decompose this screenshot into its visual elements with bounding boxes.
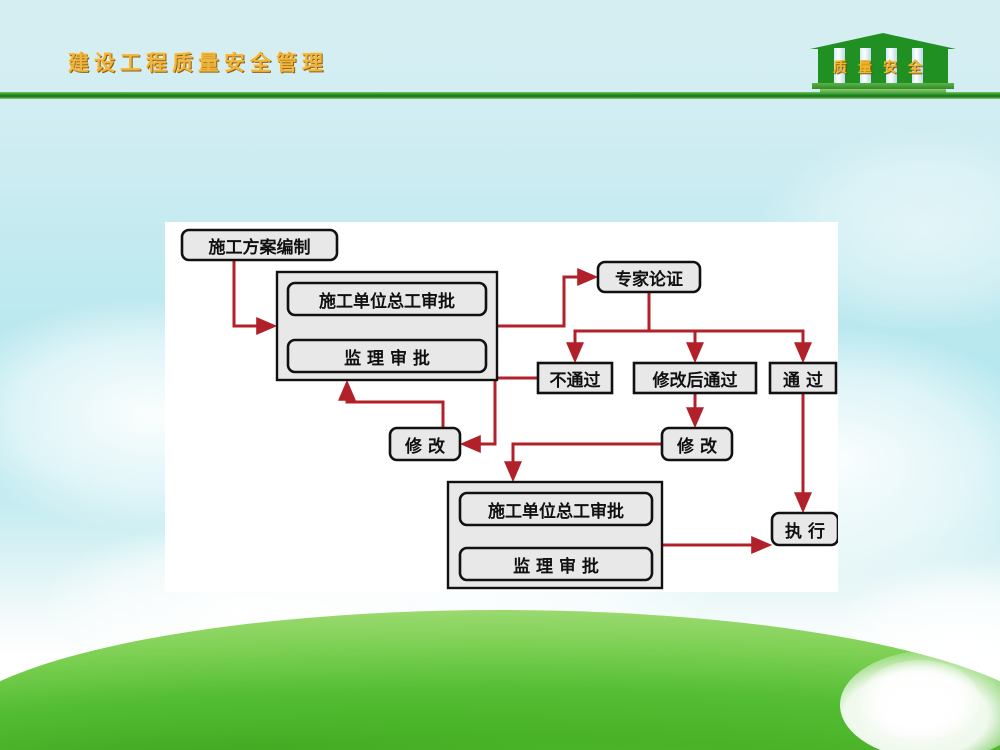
flowchart-nodes <box>182 230 838 588</box>
flow-edge <box>649 331 695 359</box>
flow-node-expert <box>598 262 700 292</box>
flowchart-graphics <box>165 222 838 592</box>
flow-node-fail <box>538 363 612 393</box>
logo-text: 质量安全 <box>818 57 948 77</box>
flow-node-g1-chief <box>288 283 486 315</box>
logo-roof-shape <box>810 33 956 49</box>
flow-edge <box>347 384 443 428</box>
flow-edge <box>497 277 594 326</box>
flowchart-panel: 施工方案编制施工单位总工审批监 理 审 批专家论证不通过修改后通过通 过修 改修… <box>165 222 838 592</box>
flow-edge <box>234 260 273 326</box>
flow-node-g2-chief <box>460 493 652 525</box>
flow-edge <box>649 331 803 359</box>
flow-node-pass <box>770 363 836 393</box>
flow-node-pass-mod <box>634 363 756 393</box>
flow-node-g2-super <box>460 548 652 580</box>
flow-node-execute <box>772 513 838 545</box>
flow-edge <box>513 444 662 478</box>
flow-node-g1-super <box>288 340 486 372</box>
slide-canvas: 建设工程质量安全管理 质量安全 施工方案编制施工单位总工审批监 理 审 批专家论… <box>0 0 1000 750</box>
page-title: 建设工程质量安全管理 <box>68 47 328 77</box>
flow-node-plan <box>182 230 337 260</box>
cloud-decoration <box>860 660 980 740</box>
flow-edge <box>575 331 649 359</box>
flow-node-revise1 <box>390 428 460 460</box>
flow-node-revise2 <box>662 428 732 460</box>
flow-edge <box>464 378 538 444</box>
logo-base-shape <box>820 89 946 94</box>
temple-logo-icon: 质量安全 <box>810 33 956 95</box>
